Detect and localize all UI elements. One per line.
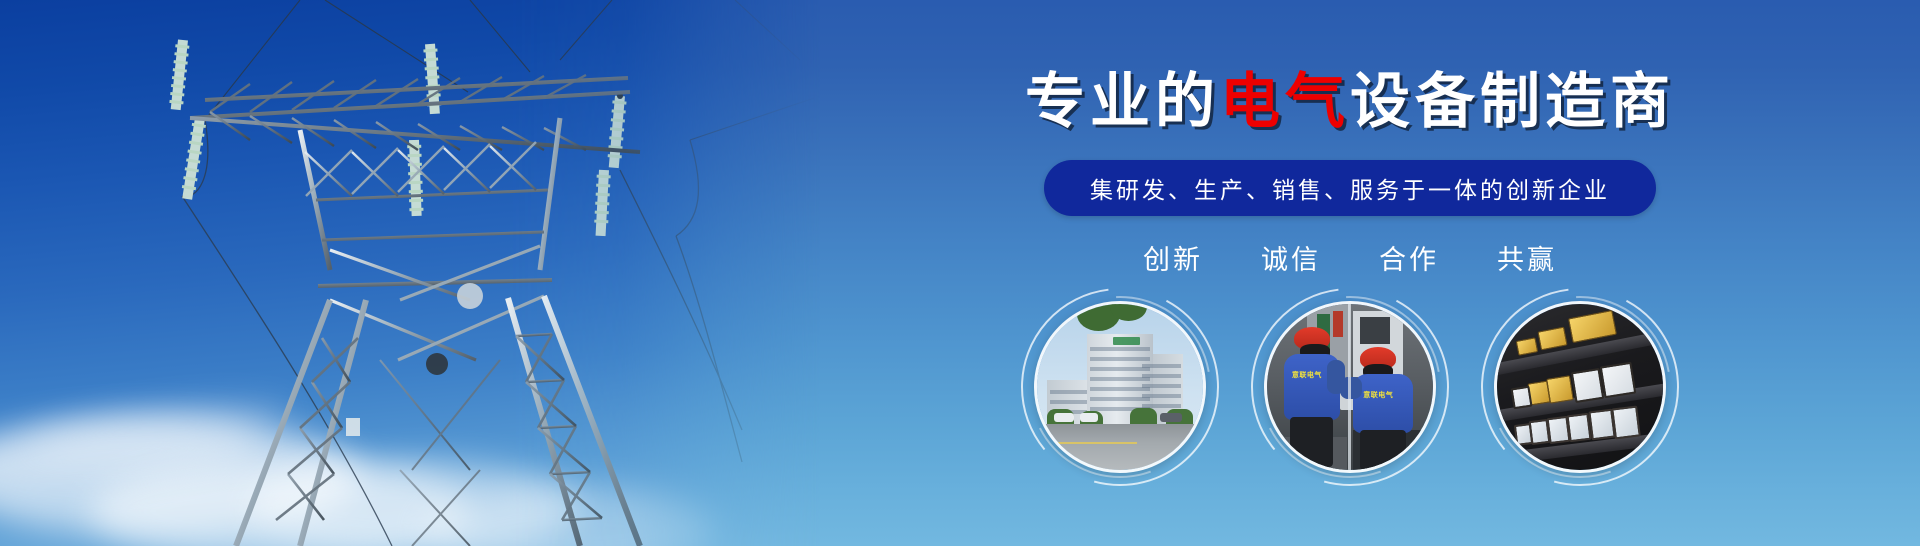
certificate-wall-image — [1497, 304, 1663, 470]
headline-part1: 专业的 — [1025, 68, 1220, 135]
workers-installing-image: 意联电气 意联电气 — [1267, 304, 1433, 470]
banner-content: 专业的电气设备制造商 集研发、生产、销售、服务于一体的创新企业 创新 诚信 合作… — [780, 0, 1920, 546]
headline-part2: 设备制造商 — [1350, 68, 1675, 135]
headline: 专业的电气设备制造商 — [1025, 72, 1675, 132]
photo-frame — [1034, 301, 1206, 473]
office-building-image — [1037, 304, 1203, 470]
keyword-item: 共赢 — [1497, 238, 1557, 277]
circle-photo-row: 意联电气 意联电气 — [1034, 301, 1666, 473]
keyword-item: 创新 — [1143, 238, 1203, 277]
promo-banner: 专业的电气设备制造商 集研发、生产、销售、服务于一体的创新企业 创新 诚信 合作… — [0, 0, 1920, 546]
circle-photo-certificate-wall — [1494, 301, 1666, 473]
transmission-tower-photo — [0, 0, 820, 546]
circle-photo-office-building — [1034, 301, 1206, 473]
keyword-list: 创新 诚信 合作 共赢 — [1143, 238, 1557, 277]
photo-frame: 意联电气 意联电气 — [1264, 301, 1436, 473]
photo-frame — [1494, 301, 1666, 473]
pylon-lattice-icon — [0, 0, 820, 546]
keyword-item: 诚信 — [1261, 238, 1321, 277]
subtitle-pill: 集研发、生产、销售、服务于一体的创新企业 — [1044, 160, 1656, 216]
headline-highlight: 电气 — [1220, 68, 1350, 135]
keyword-item: 合作 — [1379, 238, 1439, 277]
circle-photo-workers-installing: 意联电气 意联电气 — [1264, 301, 1436, 473]
